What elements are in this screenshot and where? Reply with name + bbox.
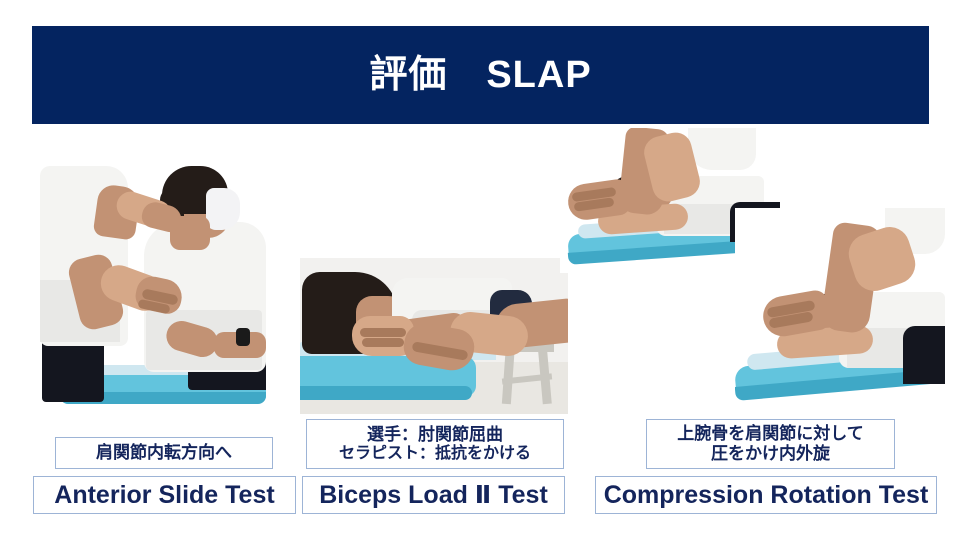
caption-line: 選手：肘関節屈曲: [367, 425, 503, 445]
slide-canvas: 評価 SLAP: [0, 0, 960, 540]
caption-box-biceps-load-2: 選手：肘関節屈曲 セラピスト：抵抗をかける: [306, 419, 564, 469]
photo-biceps-load-2-test: [300, 258, 568, 414]
test-name-compression-rotation[interactable]: Compression Rotation Test: [595, 476, 937, 514]
test-name-label: Biceps Load Ⅱ Test: [319, 480, 548, 510]
caption-line: 上腕骨を肩関節に対して: [677, 424, 864, 444]
title-banner: 評価 SLAP: [32, 26, 929, 124]
test-name-anterior-slide[interactable]: Anterior Slide Test: [33, 476, 296, 514]
photo-compression-rotation-test-lower: [735, 208, 945, 414]
caption-line: 肩関節内転方向へ: [96, 443, 232, 463]
caption-line: 圧をかけ内外旋: [711, 444, 830, 464]
photo-anterior-slide-test: [38, 160, 266, 418]
page-title: 評価 SLAP: [369, 56, 591, 94]
test-name-biceps-load-2[interactable]: Biceps Load Ⅱ Test: [302, 476, 565, 514]
caption-line: セラピスト：抵抗をかける: [339, 445, 531, 463]
caption-box-anterior-slide: 肩関節内転方向へ: [55, 437, 273, 469]
test-name-label: Compression Rotation Test: [604, 481, 929, 510]
test-name-label: Anterior Slide Test: [54, 481, 274, 510]
caption-box-compression-rotation: 上腕骨を肩関節に対して 圧をかけ内外旋: [646, 419, 895, 469]
